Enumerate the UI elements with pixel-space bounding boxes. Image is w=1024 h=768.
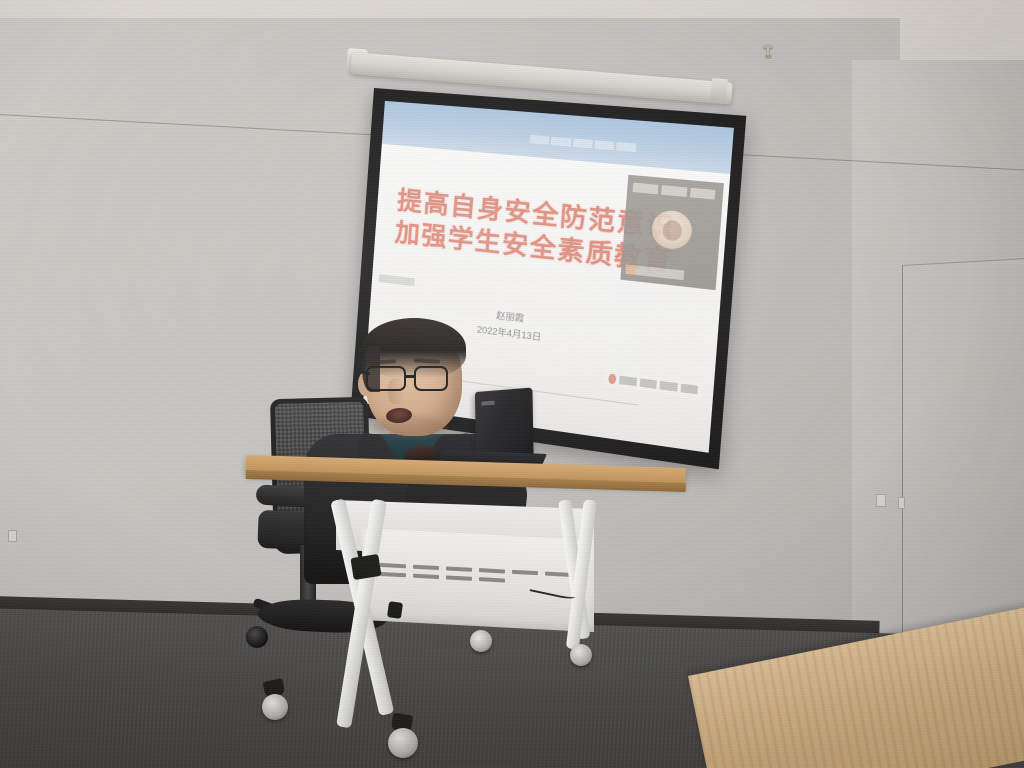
modesty-panel-slots: [380, 563, 580, 603]
desk-leg-joint: [387, 601, 403, 619]
desk-caster: [470, 630, 492, 652]
sprinkler-icon: [762, 44, 774, 60]
desk-caster: [262, 694, 288, 720]
record-icon[interactable]: [608, 373, 617, 385]
wall-outlet[interactable]: [876, 494, 886, 507]
wall-outlet[interactable]: [8, 530, 17, 542]
participant-panel-header: [633, 182, 716, 199]
chin-shadow: [374, 416, 446, 438]
laptop-screen[interactable]: [475, 387, 534, 460]
desk-caster: [570, 644, 592, 666]
wall-outlet[interactable]: [898, 497, 905, 509]
desk-caster: [388, 728, 418, 758]
laptop-logo: [481, 401, 494, 406]
glasses-icon: [364, 366, 466, 392]
participant-name-label: [625, 264, 684, 280]
screen-housing-cap-right: [710, 78, 728, 101]
photo-scene: 提高自身安全防范意识 加强学生安全素质教育 赵丽霞 2022年4月13日: [0, 0, 1024, 768]
chair-caster: [246, 626, 268, 648]
avatar: [651, 209, 694, 251]
participant-panel[interactable]: [621, 174, 724, 290]
desk-leg-joint: [350, 554, 381, 580]
